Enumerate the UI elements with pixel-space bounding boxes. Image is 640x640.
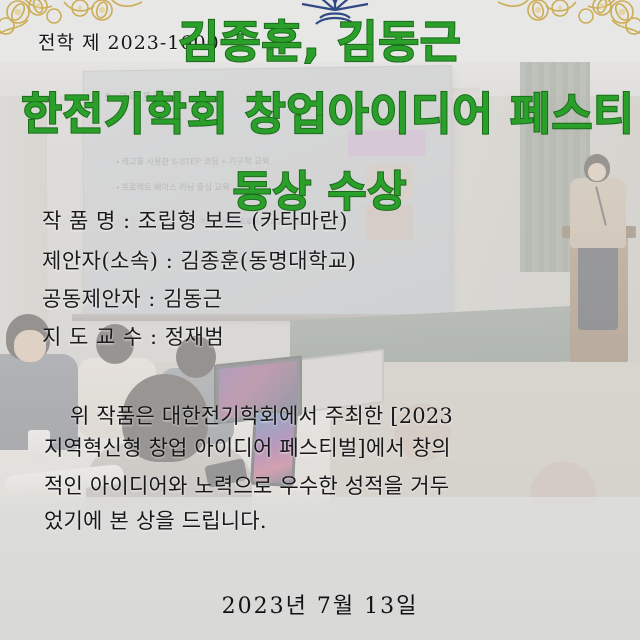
overlay-event-text: 한전기학회 창업아이디어 페스티 (0, 78, 640, 142)
field-separator: : (148, 287, 156, 311)
citation-line-2: 지역혁신형 창업 아이디어 페스티벌]에서 창의 (44, 432, 451, 462)
field-value: 정재범 (165, 325, 224, 349)
citation-line-4: 었기에 본 상을 드립니다. (44, 505, 267, 535)
field-separator: : (166, 249, 174, 273)
field-label: 공동제안자 (42, 287, 141, 311)
field-proposer: 제안자(소속) : 김종훈(동명대학교) (42, 245, 356, 275)
field-co-proposer: 공동제안자 : 김동근 (42, 283, 223, 313)
certificate-date: 2023년 7월 13일 (0, 588, 640, 620)
citation-line-3: 적인 아이디어와 노력으로 우수한 성적을 거두 (44, 470, 449, 500)
field-label: 지 도 교 수 (42, 325, 143, 349)
citation-line-1: 위 작품은 대한전기학회에서 주최한 [2023 (70, 400, 453, 430)
certificate-composite-image: 5. 교육 프로그램 • 레고를 사용한 S-STEP 코딩 + 기구학 교육 … (0, 0, 640, 640)
field-value: 김동근 (163, 287, 222, 311)
field-separator: : (150, 325, 158, 349)
overlay-award-text: 동상 수상 (0, 158, 640, 219)
overlay-names-text: 김종훈, 김동근 (0, 6, 640, 70)
field-label: 제안자(소속) (42, 249, 159, 273)
field-advising-professor: 지 도 교 수 : 정재범 (42, 321, 224, 351)
field-value: 김종훈(동명대학교) (180, 249, 356, 273)
